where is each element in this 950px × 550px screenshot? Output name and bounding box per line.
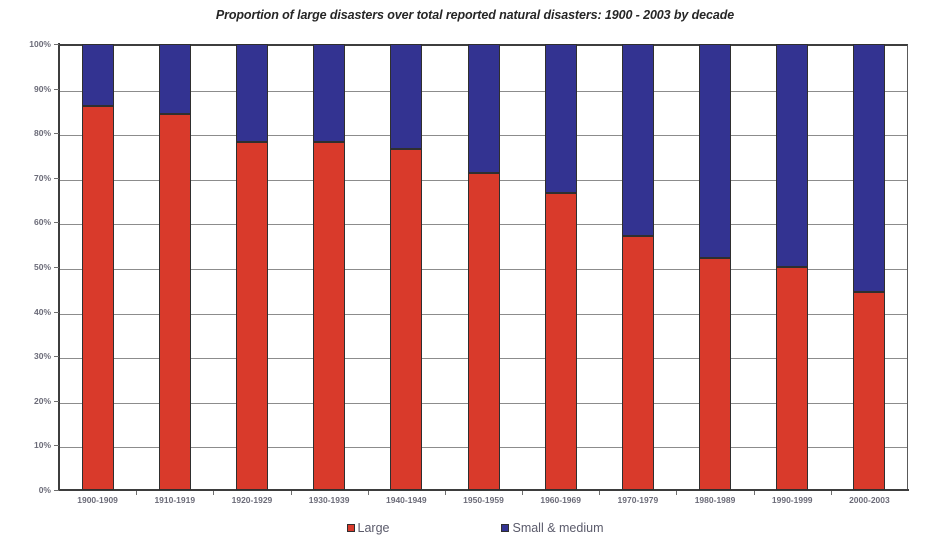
bar-stack[interactable] (82, 44, 114, 490)
bar-stack[interactable] (853, 44, 885, 490)
bar-segment-large[interactable] (82, 106, 114, 490)
bar-segment-small-medium[interactable] (622, 44, 654, 236)
y-tick-label: 0% (0, 485, 51, 495)
bar-stack[interactable] (545, 44, 577, 490)
bar-segment-large[interactable] (390, 149, 422, 490)
bar-stack[interactable] (236, 44, 268, 490)
bar-stack[interactable] (622, 44, 654, 490)
bar-segment-large[interactable] (853, 292, 885, 490)
y-tick-mark (54, 44, 59, 45)
y-tick-label: 60% (0, 217, 51, 227)
y-tick-label: 80% (0, 128, 51, 138)
bar-stack[interactable] (159, 44, 191, 490)
bar-segment-large[interactable] (159, 114, 191, 490)
y-tick-label: 10% (0, 440, 51, 450)
chart-legend: LargeSmall & medium (0, 521, 950, 535)
y-tick-label: 30% (0, 351, 51, 361)
y-tick-mark (54, 490, 59, 491)
bar-segment-small-medium[interactable] (699, 44, 731, 258)
y-tick-mark (54, 133, 59, 134)
y-tick-mark (54, 222, 59, 223)
bar-segment-small-medium[interactable] (159, 44, 191, 114)
y-tick-label: 40% (0, 307, 51, 317)
bar-stack[interactable] (776, 44, 808, 490)
legend-item[interactable]: Large (347, 521, 390, 535)
bar-segment-small-medium[interactable] (468, 44, 500, 173)
y-tick-mark (54, 89, 59, 90)
legend-swatch-icon (347, 524, 355, 532)
y-tick-label: 90% (0, 84, 51, 94)
legend-label: Large (358, 521, 390, 535)
y-tick-label: 100% (0, 39, 51, 49)
chart-title: Proportion of large disasters over total… (0, 8, 950, 22)
y-tick-mark (54, 445, 59, 446)
legend-label: Small & medium (512, 521, 603, 535)
y-tick-mark (54, 356, 59, 357)
bar-stack[interactable] (313, 44, 345, 490)
bar-segment-small-medium[interactable] (236, 44, 268, 142)
bar-segment-small-medium[interactable] (853, 44, 885, 292)
bar-segment-small-medium[interactable] (776, 44, 808, 267)
legend-item[interactable]: Small & medium (501, 521, 603, 535)
y-tick-mark (54, 312, 59, 313)
bar-segment-large[interactable] (236, 142, 268, 490)
bar-stack[interactable] (390, 44, 422, 490)
bar-segment-large[interactable] (622, 236, 654, 490)
chart-figure: Proportion of large disasters over total… (0, 0, 950, 550)
y-tick-label: 50% (0, 262, 51, 272)
bar-segment-small-medium[interactable] (390, 44, 422, 149)
bar-segment-small-medium[interactable] (82, 44, 114, 106)
bar-segment-large[interactable] (699, 258, 731, 490)
y-tick-mark (54, 178, 59, 179)
x-tick-label: 2000-2003 (814, 495, 924, 505)
bar-segment-small-medium[interactable] (545, 44, 577, 193)
y-tick-label: 20% (0, 396, 51, 406)
y-tick-label: 70% (0, 173, 51, 183)
bar-segment-small-medium[interactable] (313, 44, 345, 142)
bar-segment-large[interactable] (776, 267, 808, 490)
bar-stack[interactable] (699, 44, 731, 490)
bar-segment-large[interactable] (313, 142, 345, 490)
bar-segment-large[interactable] (545, 193, 577, 490)
y-tick-mark (54, 267, 59, 268)
legend-swatch-icon (501, 524, 509, 532)
y-tick-mark (54, 401, 59, 402)
bar-stack[interactable] (468, 44, 500, 490)
bar-segment-large[interactable] (468, 173, 500, 490)
